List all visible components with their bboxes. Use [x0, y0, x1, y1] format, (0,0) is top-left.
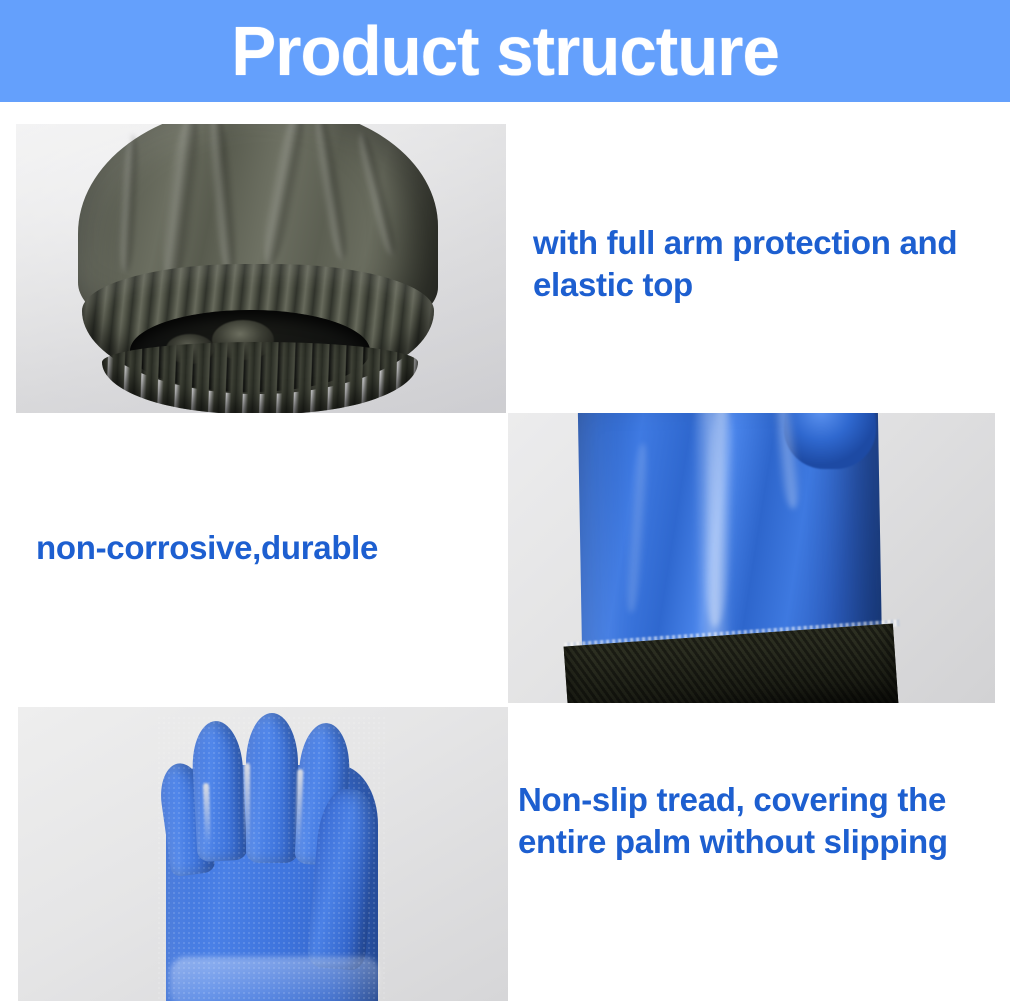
wrist-gloss-highlight [170, 957, 380, 1001]
blue-glove-palm-photo [18, 707, 508, 1001]
grey-elastic-cuff-photo [16, 124, 506, 413]
caption-non-slip-tread: Non-slip tread, covering the entire palm… [518, 779, 998, 863]
page-title: Product structure [231, 16, 779, 86]
glove-finger-middle [246, 713, 298, 863]
glove-finger-index [190, 720, 247, 862]
blue-glove-cuff-photo [508, 413, 995, 703]
finger-gap [244, 763, 250, 847]
caption-non-corrosive: non-corrosive,durable [36, 527, 506, 569]
header-banner: Product structure [0, 0, 1010, 102]
caption-arm-protection: with full arm protection and elastic top [533, 222, 1003, 306]
